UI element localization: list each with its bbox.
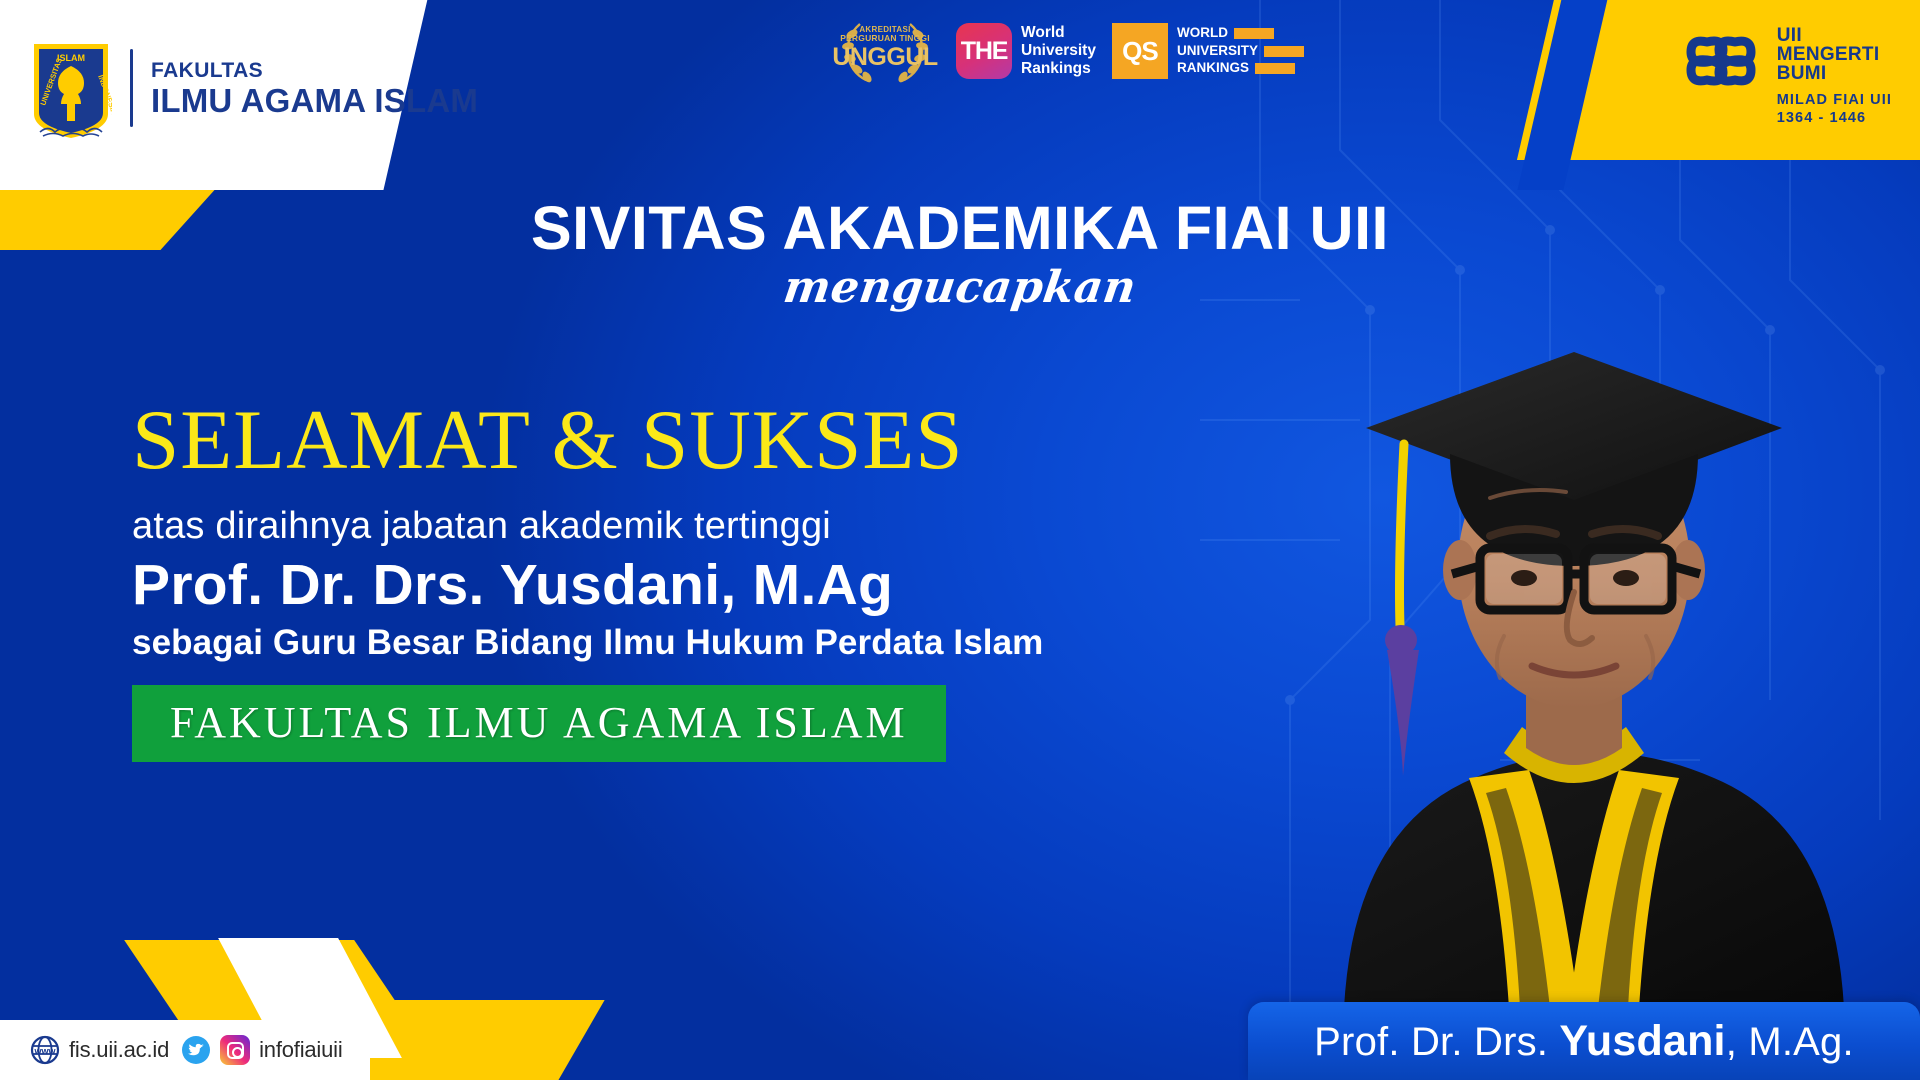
qs-bar-1 — [1234, 28, 1274, 39]
nameplate-suffix: , M.Ag. — [1726, 1020, 1854, 1064]
instagram-icon — [220, 1035, 250, 1065]
footer-social-bar: www fis.uii.ac.id infofiaiuii — [0, 1020, 370, 1080]
the-line-1: World — [1021, 24, 1096, 42]
social-handle-label: infofiaiuii — [259, 1037, 342, 1063]
qs-badge-label: QS — [1122, 36, 1158, 67]
the-line-3: Rankings — [1021, 60, 1096, 78]
milad-line-4: MILAD FIAI UII — [1777, 93, 1892, 108]
milad-line-5: 1364 - 1446 — [1777, 111, 1892, 126]
social-item[interactable]: infofiaiuii — [181, 1035, 342, 1065]
brand-line-1: FAKULTAS — [151, 60, 478, 81]
qs-badge-icon: QS — [1112, 23, 1168, 79]
headline-subtitle: mengucapkan — [0, 262, 1920, 313]
accreditation-grade: UNGGUL — [830, 44, 940, 70]
milad-line-1: UII — [1777, 26, 1892, 45]
brand-line-2: ILMU AGAMA ISLAM — [151, 84, 478, 117]
website-label: fis.uii.ac.id — [69, 1037, 169, 1063]
faculty-brand: ISLAM UNIVERSITAS INDONESIA FAKULTAS ILM… — [30, 36, 478, 140]
twitter-bird-icon — [181, 1035, 211, 1065]
qs-line-2: UNIVERSITY — [1177, 44, 1258, 59]
milad-line-2: MENGERTI — [1777, 45, 1892, 64]
qs-line-1: WORLD — [1177, 26, 1228, 41]
the-badge-icon: THE — [956, 23, 1012, 79]
website-item[interactable]: www fis.uii.ac.id — [30, 1035, 169, 1065]
ranking-logos-group: AKREDITASI PERGURUAN TINGGI UNGGUL THE W… — [830, 14, 1304, 88]
faculty-banner: FAKULTAS ILMU AGAMA ISLAM — [132, 685, 946, 762]
person-name: Prof. Dr. Drs. Yusdani, M.Ag — [132, 554, 1222, 617]
position-text: sebagai Guru Besar Bidang Ilmu Hukum Per… — [132, 623, 1222, 663]
nameplate-name: Yusdani — [1559, 1017, 1725, 1065]
headline-block: SIVITAS AKADEMIKA FIAI UII mengucapkan — [0, 196, 1920, 313]
qs-bar-3 — [1255, 63, 1295, 74]
nameplate: Prof. Dr. Drs. Yusdani, M.Ag. — [1248, 1002, 1920, 1080]
accreditation-unggul-badge: AKREDITASI PERGURUAN TINGGI UNGGUL — [830, 14, 940, 88]
brand-divider — [130, 49, 133, 127]
the-world-university-rankings-logo: THE World University Rankings — [956, 23, 1096, 79]
nameplate-prefix: Prof. Dr. Drs. — [1314, 1020, 1559, 1064]
greeting-text: SELAMAT & SUKSES — [132, 398, 1222, 483]
www-globe-icon: www — [30, 1035, 60, 1065]
main-message-block: SELAMAT & SUKSES atas diraihnya jabatan … — [132, 398, 1222, 762]
svg-text:www: www — [33, 1046, 56, 1056]
the-badge-label: THE — [961, 37, 1007, 66]
uii-milad-knot-icon — [1677, 20, 1765, 107]
qs-bar-2 — [1264, 46, 1304, 57]
qs-world-university-rankings-logo: QS WORLD UNIVERSITY RANKINGS — [1112, 23, 1304, 79]
reason-text: atas diraihnya jabatan akademik tertingg… — [132, 505, 1222, 548]
milad-fiai-logo: UII MENGERTI BUMI MILAD FIAI UII 1364 - … — [1677, 20, 1892, 125]
professor-portrait — [1254, 248, 1894, 1008]
uii-shield-logo-icon: ISLAM UNIVERSITAS INDONESIA — [30, 36, 112, 140]
headline-title: SIVITAS AKADEMIKA FIAI UII — [0, 196, 1920, 260]
qs-line-3: RANKINGS — [1177, 61, 1249, 76]
the-line-2: University — [1021, 42, 1096, 60]
accreditation-line-2: PERGURUAN TINGGI — [830, 34, 940, 43]
faculty-banner-label: FAKULTAS ILMU AGAMA ISLAM — [170, 698, 908, 747]
milad-line-3: BUMI — [1777, 64, 1892, 83]
